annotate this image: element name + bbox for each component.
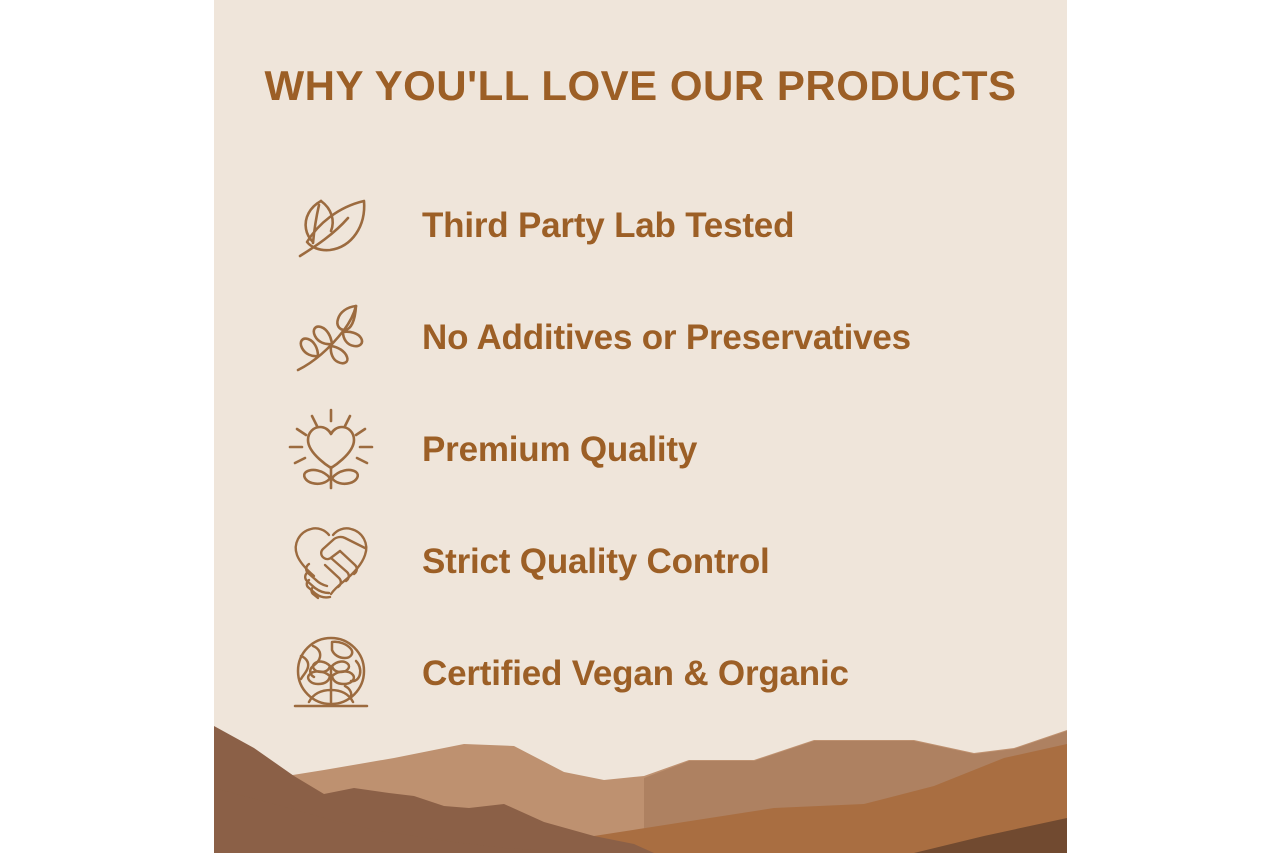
feature-list: Third Party Lab Tested No Additives or P…	[276, 170, 1056, 730]
feature-item: Certified Vegan & Organic	[276, 618, 1056, 730]
feature-label: No Additives or Preservatives	[422, 318, 911, 358]
feature-label: Strict Quality Control	[422, 542, 770, 582]
globe-sprout-icon	[276, 628, 386, 720]
leafy-branch-icon	[276, 292, 386, 384]
content-card: WHY YOU'LL LOVE OUR PRODUCTS Third Party…	[214, 0, 1067, 853]
two-leaves-icon	[276, 180, 386, 272]
feature-item: Premium Quality	[276, 394, 1056, 506]
heart-flower-shine-icon	[276, 404, 386, 496]
feature-label: Premium Quality	[422, 430, 697, 470]
mountain-illustration	[214, 718, 1067, 853]
feature-item: Strict Quality Control	[276, 506, 1056, 618]
page-title: WHY YOU'LL LOVE OUR PRODUCTS	[214, 62, 1067, 110]
feature-label: Certified Vegan & Organic	[422, 654, 849, 694]
heart-handshake-icon	[276, 516, 386, 608]
feature-item: No Additives or Preservatives	[276, 282, 1056, 394]
feature-label: Third Party Lab Tested	[422, 206, 794, 246]
feature-item: Third Party Lab Tested	[276, 170, 1056, 282]
poster-canvas: WHY YOU'LL LOVE OUR PRODUCTS Third Party…	[0, 0, 1280, 853]
